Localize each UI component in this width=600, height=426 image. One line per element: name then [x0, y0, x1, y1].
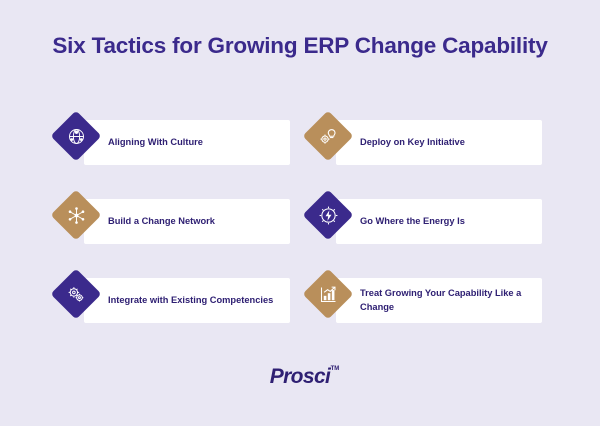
tactic-label: Deploy on Key Initiative	[360, 136, 528, 149]
tactic-label: Go Where the Energy Is	[360, 215, 528, 228]
gear-lightbulb-icon	[310, 118, 346, 154]
tactic-card-1[interactable]: Aligning With Culture	[58, 114, 290, 171]
tactic-label: Integrate with Existing Competencies	[108, 294, 276, 307]
bar-chart-growth-icon	[310, 276, 346, 312]
gears-icon	[58, 276, 94, 312]
brand-logo: Prosci TM	[0, 365, 600, 389]
page-title: Six Tactics for Growing ERP Change Capab…	[0, 32, 600, 61]
tactic-label: Build a Change Network	[108, 215, 276, 228]
tactic-card-5[interactable]: Integrate with Existing Competencies	[58, 272, 290, 329]
lightning-bolt-icon	[310, 197, 346, 233]
brand-name: Prosci	[270, 365, 331, 388]
people-network-icon	[58, 118, 94, 154]
tactic-card-2[interactable]: Deploy on Key Initiative	[310, 114, 542, 171]
infographic-canvas: Six Tactics for Growing ERP Change Capab…	[0, 0, 600, 426]
network-nodes-icon	[58, 197, 94, 233]
tactic-card-6[interactable]: Treat Growing Your Capability Like a Cha…	[310, 272, 542, 329]
trademark-symbol: TM	[331, 366, 340, 372]
tactic-card-4[interactable]: Go Where the Energy Is	[310, 193, 542, 250]
tactic-card-3[interactable]: Build a Change Network	[58, 193, 290, 250]
tactics-grid: Aligning With Culture Deploy on Key Init…	[58, 114, 542, 329]
tactic-label: Treat Growing Your Capability Like a Cha…	[360, 287, 528, 314]
tactic-label: Aligning With Culture	[108, 136, 276, 149]
